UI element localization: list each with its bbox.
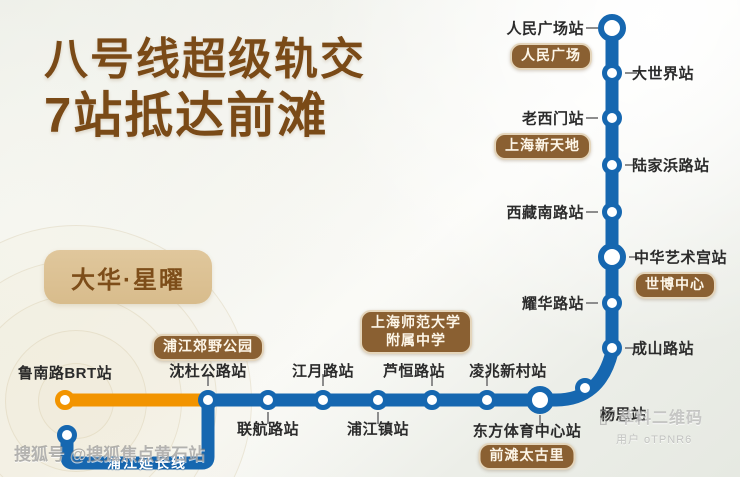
station-label-shendugonglu: 沈杜公路站 <box>169 360 247 381</box>
label-tick <box>586 27 598 29</box>
label-tick <box>586 302 598 304</box>
poi-tag-qiantantaiguli: 前滩太古里 <box>479 443 576 470</box>
station-label-lingzhaoxincun: 凌兆新村站 <box>469 360 547 381</box>
station-node-lingzhaoxincun[interactable] <box>477 390 497 410</box>
station-node-dashijie[interactable] <box>602 63 622 83</box>
station-node-pujiangzhen[interactable] <box>368 390 388 410</box>
watermark-caoliao-line-2: 用户 oTPNR6 <box>616 431 730 447</box>
poi-tag-line-2: 附属中学 <box>371 332 461 350</box>
station-node-lujiabang[interactable] <box>602 155 622 175</box>
station-label-dongfangtiyuzhongxin: 东方体育中心站 <box>473 420 582 441</box>
station-label-pujiangzhen: 浦江镇站 <box>347 418 409 439</box>
station-label-luhenglu: 芦恒路站 <box>383 360 445 381</box>
station-node-jiangyuelu[interactable] <box>313 390 333 410</box>
qr-code-icon <box>600 410 615 425</box>
poi-tag-pujiangjiaoyegongyuan: 浦江郊野公园 <box>152 334 264 361</box>
station-label-chengshanlu: 成山路站 <box>632 338 694 359</box>
station-node-lunanlu-brt[interactable] <box>55 390 75 410</box>
station-label-lunanlu-brt: 鲁南路BRT站 <box>18 362 112 383</box>
station-label-lujiabang: 陆家浜路站 <box>632 155 710 176</box>
station-node-renminguangchang[interactable] <box>598 14 626 42</box>
station-label-yaohualu: 耀华路站 <box>522 293 584 314</box>
station-node-xizangnanlu[interactable] <box>602 202 622 222</box>
watermark-caoliao-line-1: 草料二维码 <box>600 404 730 428</box>
station-label-laoximen: 老西门站 <box>522 108 584 129</box>
poi-tag-line-1: 上海师范大学 <box>371 314 461 332</box>
station-label-renminguangchang: 人民广场站 <box>506 18 584 39</box>
watermark-caoliao-text: 草料二维码 <box>618 410 703 427</box>
station-node-shendugonglu[interactable] <box>198 390 218 410</box>
watermark-sohu: 搜狐号 @搜狐焦点黄石站 <box>14 440 205 465</box>
station-node-luhenglu[interactable] <box>422 390 442 410</box>
station-node-dongfangtiyuzhongxin[interactable] <box>526 386 554 414</box>
label-tick <box>586 211 598 213</box>
station-label-zhonghuayishugong: 中华艺术宫站 <box>634 247 727 268</box>
station-node-yaohualu[interactable] <box>602 293 622 313</box>
station-node-yangsi[interactable] <box>575 378 595 398</box>
metro-line-poster: 八号线超级轨交 7站抵达前滩 大华·星曜 人民广场站 人民广场 大世界站 老西门… <box>0 0 740 477</box>
station-label-lianhanglu: 联航路站 <box>237 418 299 439</box>
station-node-laoximen[interactable] <box>602 108 622 128</box>
station-label-xizangnanlu: 西藏南路站 <box>506 202 584 223</box>
poi-tag-xintiandi: 上海新天地 <box>494 133 591 160</box>
poi-tag-shanghaishifandaxue: 上海师范大学 附属中学 <box>360 310 472 354</box>
station-node-zhonghuayishugong[interactable] <box>598 243 626 271</box>
station-node-lianhanglu[interactable] <box>258 390 278 410</box>
label-tick <box>586 117 598 119</box>
poi-tag-renminguangchang: 人民广场 <box>510 43 592 70</box>
station-label-jiangyuelu: 江月路站 <box>292 360 354 381</box>
watermark-caoliao: 草料二维码 用户 oTPNR6 <box>600 404 730 447</box>
station-node-chengshanlu[interactable] <box>602 338 622 358</box>
station-label-dashijie: 大世界站 <box>632 63 694 84</box>
poi-tag-shibozhongxin: 世博中心 <box>634 272 716 299</box>
